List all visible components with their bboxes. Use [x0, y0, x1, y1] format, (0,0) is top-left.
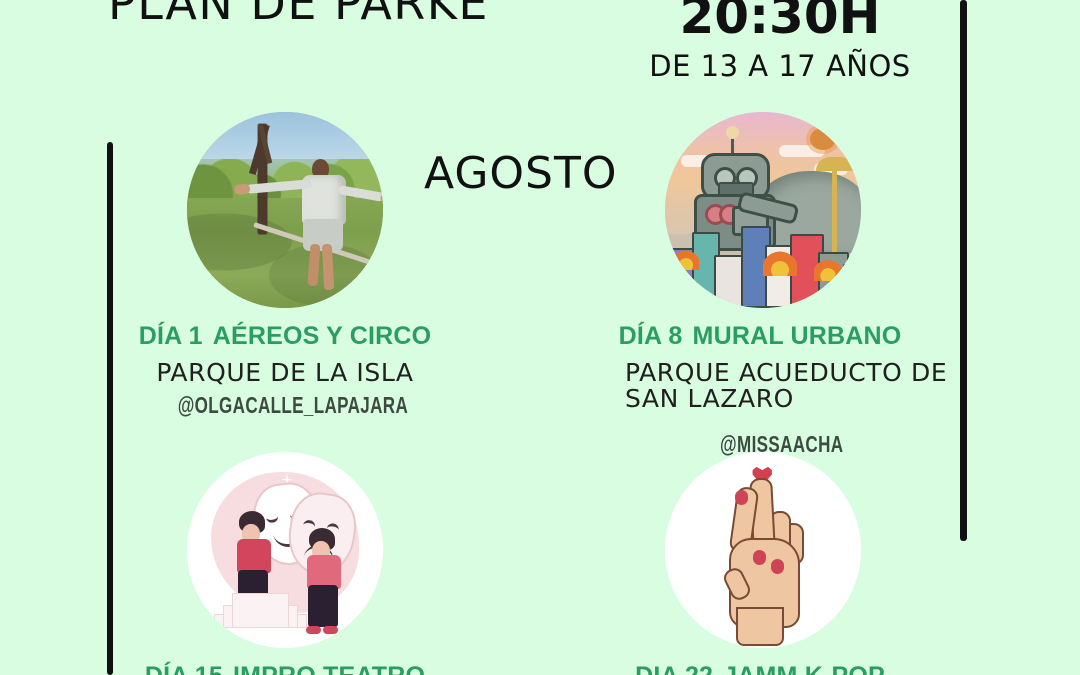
- robot-mural-art: [665, 112, 861, 308]
- nail-polish: [753, 550, 766, 565]
- event-name-dia-8: MURAL URBANO: [693, 322, 902, 350]
- slackline-photo-art: [187, 112, 383, 308]
- slackline-walker: [289, 159, 379, 296]
- vertical-rule-right: [960, 0, 967, 541]
- poster-canvas: PLAN DE PARKE 20:30H DE 13 A 17 AÑOS AGO…: [0, 0, 1080, 675]
- event-day-dia-8: DÍA 8: [619, 322, 683, 350]
- hand-wrist: [736, 607, 783, 647]
- event-time: 20:30H: [620, 0, 940, 43]
- age-range: DE 13 A 17 AÑOS: [620, 49, 940, 84]
- thumbnail-wrap: [570, 452, 950, 648]
- event-card-dia-1[interactable]: DÍA 1AÉREOS Y CIRCO PARQUE DE LA ISLA @O…: [95, 112, 475, 419]
- event-day-dia-15: DÍA 15: [145, 662, 223, 675]
- theatre-masks-art: [187, 452, 383, 648]
- actor-legs: [308, 585, 338, 627]
- event-image-mural: [665, 112, 861, 308]
- mural-sun: [810, 128, 836, 150]
- actor-shoe: [306, 626, 321, 634]
- page-title: PLAN DE PARKE: [108, 0, 489, 30]
- finger-heart-hand: [724, 481, 814, 630]
- schedule-info: 20:30H DE 13 A 17 AÑOS: [620, 0, 940, 83]
- mural-building: [843, 264, 861, 308]
- actor-torso: [237, 539, 271, 573]
- mural-flame: [673, 246, 699, 270]
- finger-heart-art: [665, 452, 861, 648]
- event-name-dia-15: IMPRO TEATRO: [233, 662, 425, 675]
- mural-flame: [763, 246, 797, 276]
- event-image-slackline: [187, 112, 383, 308]
- event-title-dia-8: DÍA 8MURAL URBANO: [570, 322, 950, 351]
- event-handle-dia-1[interactable]: @OLGACALLE_LAPAJARA: [152, 392, 433, 419]
- event-name-dia-22: JAMM K-POP: [723, 662, 885, 675]
- event-image-theatre: [187, 452, 383, 648]
- event-image-kpop: [665, 452, 861, 648]
- nail-polish: [771, 559, 784, 574]
- event-place-dia-1: PARQUE DE LA ISLA: [95, 360, 475, 386]
- stage-step: [232, 593, 288, 628]
- event-title-dia-22: DIA 22JAMM K-POP: [570, 662, 950, 675]
- robot-head: [701, 153, 770, 200]
- mural-cityscape: [665, 218, 861, 308]
- walker-leg-left: [307, 244, 320, 287]
- theatre-stage-steps: [214, 593, 304, 628]
- event-card-dia-22[interactable]: DIA 22JAMM K-POP: [570, 452, 950, 675]
- event-name-dia-1: AÉREOS Y CIRCO: [213, 322, 432, 350]
- thumbnail-wrap: [95, 452, 475, 648]
- event-title-dia-1: DÍA 1AÉREOS Y CIRCO: [95, 322, 475, 351]
- thumbnail-wrap: [95, 112, 475, 308]
- event-card-dia-8[interactable]: DÍA 8MURAL URBANO PARQUE ACUEDUCTO DE SA…: [570, 112, 950, 458]
- nail-polish: [735, 490, 748, 505]
- thumbnail-wrap: [570, 112, 950, 308]
- event-card-dia-15[interactable]: DÍA 15IMPRO TEATRO: [95, 452, 475, 675]
- event-day-dia-1: DÍA 1: [139, 322, 203, 350]
- event-place-dia-8: PARQUE ACUEDUCTO DE SAN LAZARO: [570, 360, 950, 413]
- event-title-dia-15: DÍA 15IMPRO TEATRO: [95, 662, 475, 675]
- mural-flame: [814, 255, 842, 281]
- actor-shoe: [323, 626, 338, 634]
- event-day-dia-22: DIA 22: [635, 662, 713, 675]
